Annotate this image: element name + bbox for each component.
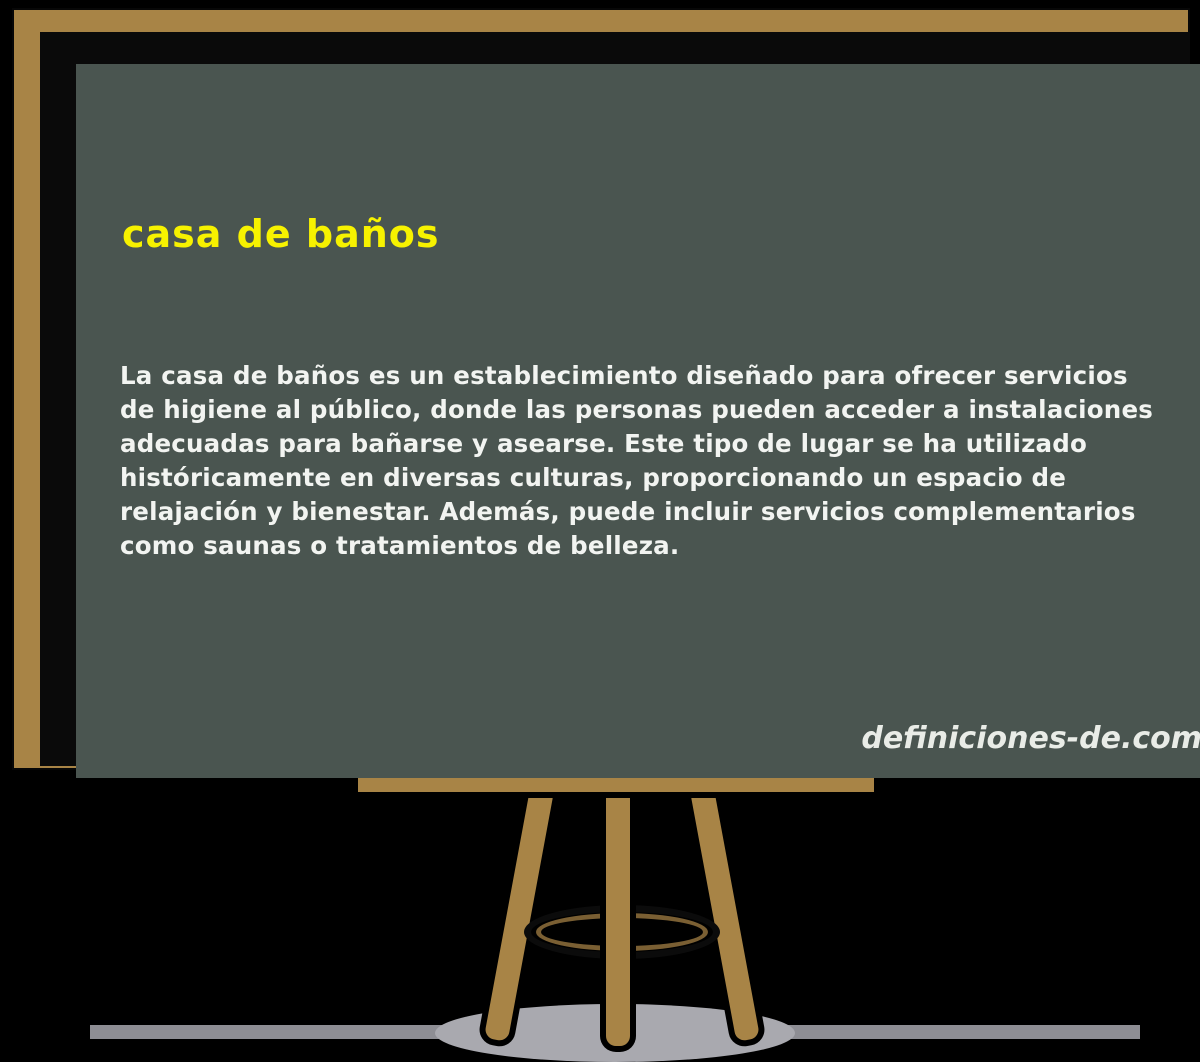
board-definition-text: La casa de baños es un establecimiento d… <box>120 359 1155 563</box>
easel-leg-center <box>600 790 636 1052</box>
chalkboard-surface: casa de baños La casa de baños es un est… <box>76 64 1200 778</box>
chalkboard-inner-border: casa de baños La casa de baños es un est… <box>40 32 1190 766</box>
board-title: casa de baños <box>122 212 439 256</box>
chalkboard-frame: casa de baños La casa de baños es un est… <box>12 8 1190 770</box>
site-watermark: definiciones-de.com <box>861 721 1200 756</box>
chalkboard-scene: casa de baños La casa de baños es un est… <box>0 0 1200 1056</box>
